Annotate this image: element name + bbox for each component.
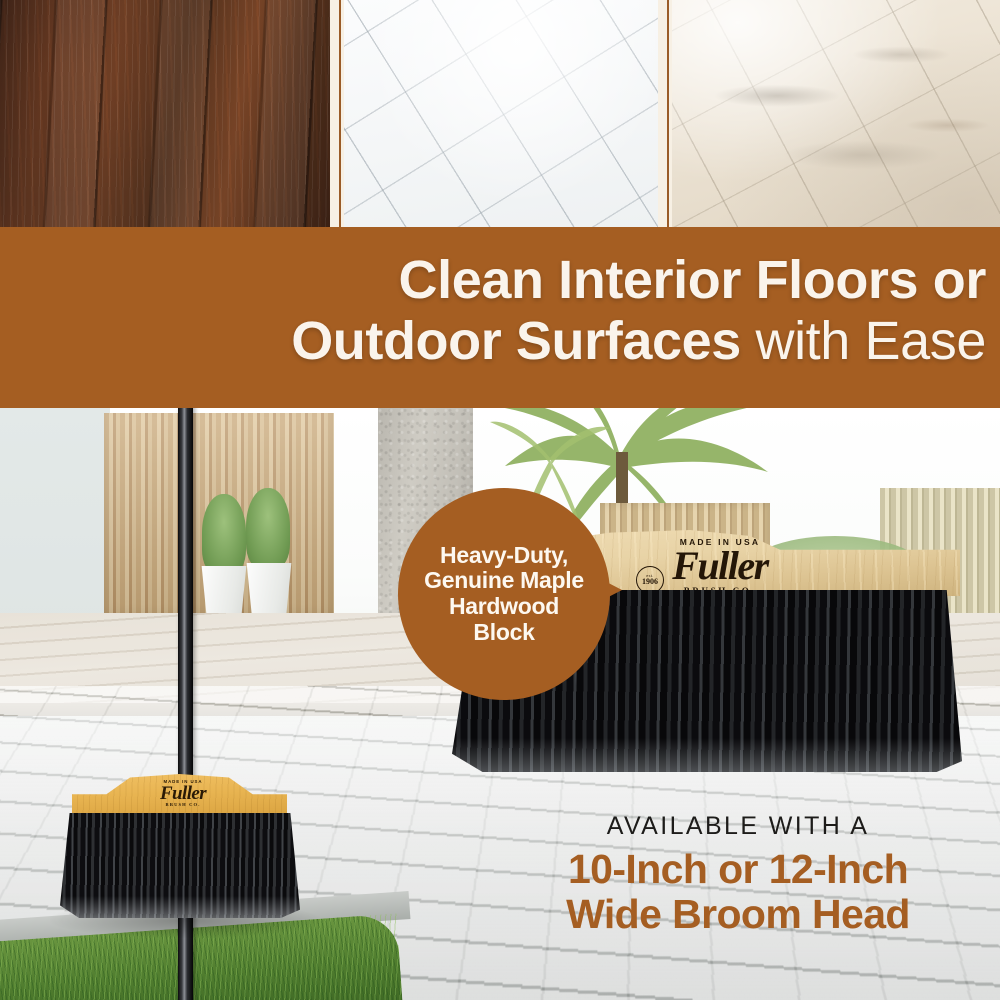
headline-line-1-bold: Clean Interior Floors or bbox=[399, 250, 987, 310]
est-1906-seal: est. 1906 bbox=[636, 566, 664, 594]
caption-line-1: 10-Inch or 12-Inch bbox=[500, 847, 976, 892]
headline-text: Clean Interior Floors or Outdoor Surface… bbox=[0, 253, 986, 369]
headline-line-1: Clean Interior Floors or bbox=[0, 253, 986, 308]
fuller-wordmark: Fuller bbox=[672, 546, 767, 586]
marble-tile-floor-panel bbox=[672, 0, 1000, 228]
callout-text: Heavy-Duty, Genuine Maple Hardwood Block bbox=[416, 543, 592, 646]
headline-line-2: Outdoor Surfaces with Ease bbox=[0, 314, 986, 369]
headline-line-2-light: with Ease bbox=[741, 311, 986, 371]
broom-black-bristles bbox=[60, 813, 300, 918]
headline-banner: Clean Interior Floors or Outdoor Surface… bbox=[0, 227, 1000, 408]
fuller-logo-large: MADE IN USA Fuller BRUSH CO. bbox=[600, 536, 840, 598]
callout-line-3: Hardwood bbox=[424, 594, 584, 620]
callout-circle: Heavy-Duty, Genuine Maple Hardwood Block bbox=[398, 488, 610, 700]
feature-callout-badge: Heavy-Duty, Genuine Maple Hardwood Block bbox=[398, 488, 610, 700]
panel-divider-1 bbox=[330, 0, 344, 228]
size-caption: AVAILABLE WITH A 10-Inch or 12-Inch Wide… bbox=[500, 812, 976, 937]
caption-line-2: Wide Broom Head bbox=[500, 892, 976, 937]
callout-line-4: Block bbox=[424, 620, 584, 646]
fuller-logo-small: MADE IN USA Fuller BRUSH CO. bbox=[128, 776, 238, 812]
fuller-wordmark-small: Fuller bbox=[160, 784, 206, 803]
headline-line-2-bold: Outdoor Surfaces bbox=[291, 311, 741, 371]
callout-line-2: Genuine Maple bbox=[424, 568, 584, 594]
white-tile-floor-panel bbox=[344, 0, 658, 228]
hardwood-floor-panel bbox=[0, 0, 330, 228]
est-year-label: 1906 bbox=[642, 578, 658, 586]
flooring-samples-strip bbox=[0, 0, 1000, 228]
product-marketing-image: Clean Interior Floors or Outdoor Surface… bbox=[0, 0, 1000, 1000]
planter-bush-2 bbox=[246, 488, 290, 568]
panel-divider-2 bbox=[658, 0, 672, 228]
planter-bush-1 bbox=[202, 494, 246, 574]
white-wall bbox=[0, 408, 110, 633]
brush-co-label-small: BRUSH CO. bbox=[166, 803, 201, 808]
callout-line-1: Heavy-Duty, bbox=[424, 543, 584, 569]
caption-eyebrow: AVAILABLE WITH A bbox=[500, 812, 976, 841]
